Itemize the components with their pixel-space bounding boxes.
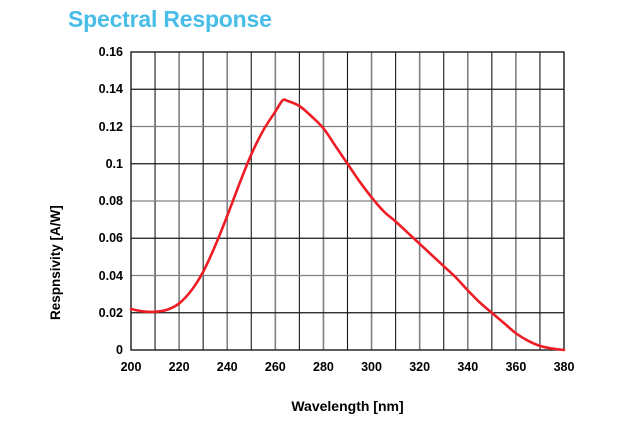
y-tick-label: 0.08: [71, 194, 123, 208]
y-tick-label: 0.16: [71, 45, 123, 59]
y-tick-label: 0.04: [71, 269, 123, 283]
x-tick-label: 240: [205, 359, 249, 375]
y-tick-label: 0.14: [71, 82, 123, 96]
y-tick-label: 0.06: [71, 231, 123, 245]
y-tick-label: 0.1: [71, 157, 123, 171]
x-tick-label: 300: [350, 359, 394, 375]
x-tick-label: 360: [494, 359, 538, 375]
x-tick-label: 340: [446, 359, 490, 375]
x-tick-label: 220: [157, 359, 201, 375]
x-tick-label: 280: [301, 359, 345, 375]
y-tick-label: 0.12: [71, 120, 123, 134]
y-tick-label: 0: [71, 343, 123, 357]
x-tick-label: 380: [542, 359, 586, 375]
x-tick-label: 200: [109, 359, 153, 375]
y-tick-label: 0.02: [71, 306, 123, 320]
x-tick-label: 260: [253, 359, 297, 375]
x-tick-label: 320: [398, 359, 442, 375]
